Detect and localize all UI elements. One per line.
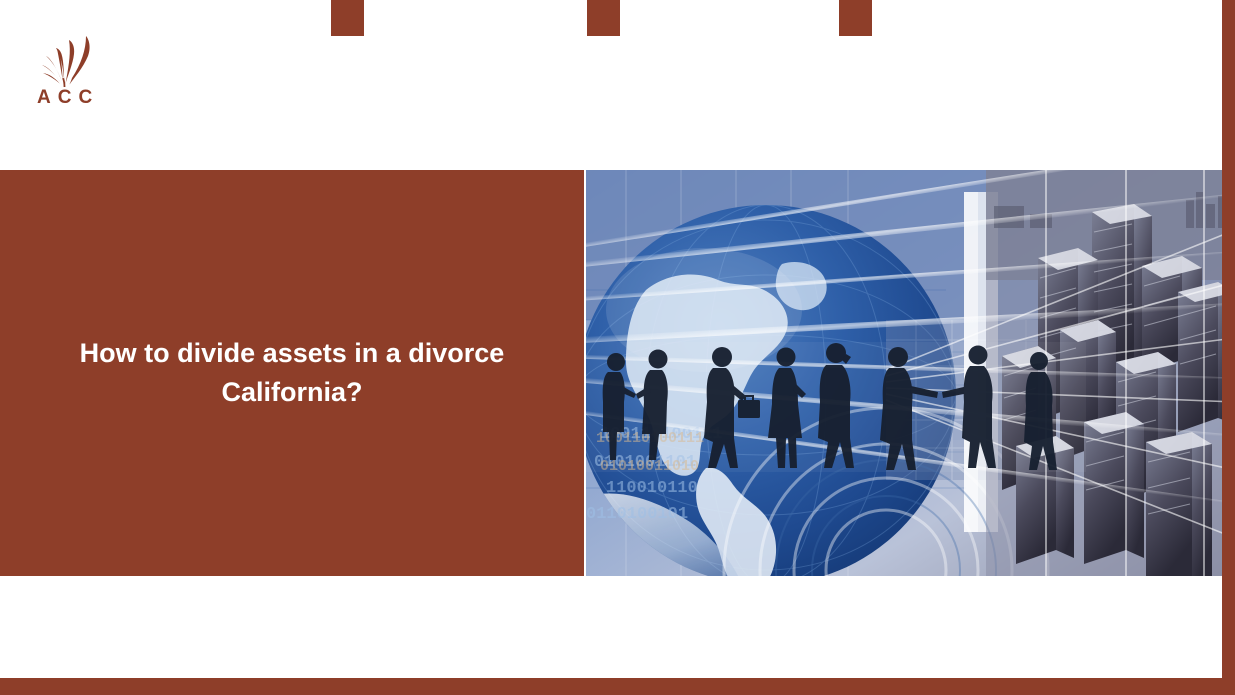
hero-image: 100110100111 0101001101 110010110 011010… xyxy=(586,170,1235,576)
content-band: How to divide assets in a divorce Califo… xyxy=(0,170,1235,576)
flame-leaf-icon xyxy=(34,34,106,88)
title-panel: How to divide assets in a divorce Califo… xyxy=(0,170,584,576)
top-mark-3 xyxy=(839,0,872,36)
logo-text: ACC xyxy=(37,88,109,107)
right-accent-bar xyxy=(1222,0,1235,695)
logo[interactable]: ACC xyxy=(34,34,106,112)
page-title: How to divide assets in a divorce Califo… xyxy=(52,334,532,412)
slide: ACC How to divide assets in a divorce Ca… xyxy=(0,0,1235,695)
top-mark-2 xyxy=(587,0,620,36)
top-mark-1 xyxy=(331,0,364,36)
bottom-accent-bar xyxy=(0,678,1235,695)
svg-text:110010110: 110010110 xyxy=(606,479,698,498)
svg-text:0110100101: 0110100101 xyxy=(586,505,688,524)
